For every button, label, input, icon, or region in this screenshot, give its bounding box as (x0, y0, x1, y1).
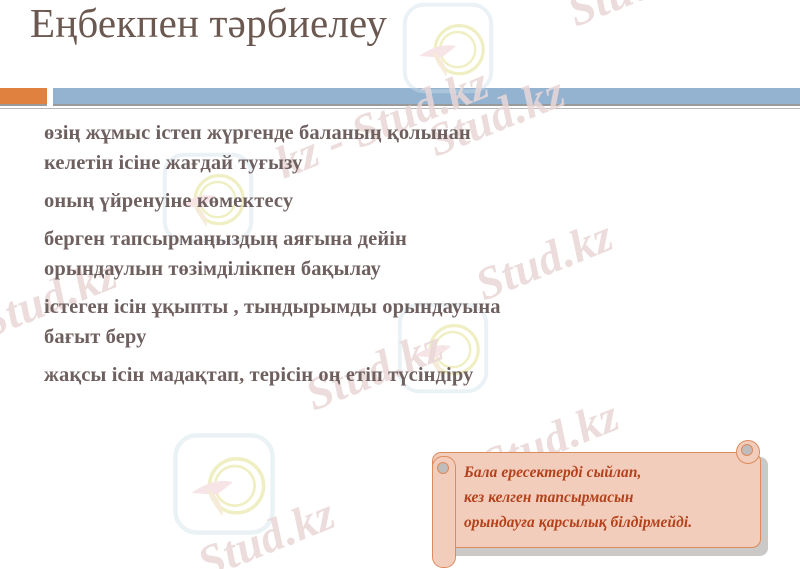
content-list: өзің жұмыс істеп жүргенде баланың қолына… (44, 118, 759, 398)
list-item: жақсы ісін мадақтап, терісін оң етіп түс… (44, 360, 759, 390)
scroll-callout-line: орындауға қарсылық білдірмейді. (464, 510, 754, 535)
divider-accent-square (0, 88, 47, 104)
stud-kz-logo-watermark-icon (170, 430, 278, 538)
watermark-text: Stud.kz (560, 0, 712, 37)
stud-kz-logo-watermark-icon (400, 0, 496, 96)
list-item-line: істеген ісін ұқыпты , тындырымды орындау… (44, 292, 759, 322)
scroll-callout-line: кез келген тапсырмасын (464, 485, 754, 510)
list-item-line: орындаулын төзімділікпен бақылау (44, 254, 759, 284)
list-item: істеген ісін ұқыпты , тындырымды орындау… (44, 292, 759, 352)
list-item-line: оның үйренуіне көмектесу (44, 186, 759, 216)
list-item-line: өзің жұмыс істеп жүргенде баланың қолына… (44, 118, 759, 148)
divider-bar (53, 88, 800, 104)
list-item-line: берген тапсырмаңыздың аяғына дейін (44, 224, 759, 254)
scroll-callout-line: Бала ересектерді сыйлап, (464, 460, 754, 485)
list-item-line: жақсы ісін мадақтап, терісін оң етіп түс… (44, 360, 759, 390)
scroll-callout-text: Бала ересектерді сыйлап, кез келген тапс… (464, 460, 754, 535)
divider-hairline (0, 108, 800, 109)
list-item: өзің жұмыс істеп жүргенде баланың қолына… (44, 118, 759, 178)
list-item-line: келетін ісіне жағдай туғызу (44, 148, 759, 178)
list-item: берген тапсырмаңыздың аяғына дейін орынд… (44, 224, 759, 284)
divider-bar-row (0, 88, 800, 108)
scroll-curl-left-icon (432, 456, 456, 568)
list-item: оның үйренуіне көмектесу (44, 186, 759, 216)
scroll-callout: Бала ересектерді сыйлап, кез келген тапс… (432, 452, 768, 556)
page-title: Еңбекпен тәрбиелеу (30, 0, 387, 48)
list-item-line: бағыт беру (44, 322, 759, 352)
watermark-text: Stud.kz (190, 486, 342, 569)
slide-canvas: Stud.kz kz - Stud.kz Stud.kz Stud.kz Stu… (0, 0, 800, 569)
